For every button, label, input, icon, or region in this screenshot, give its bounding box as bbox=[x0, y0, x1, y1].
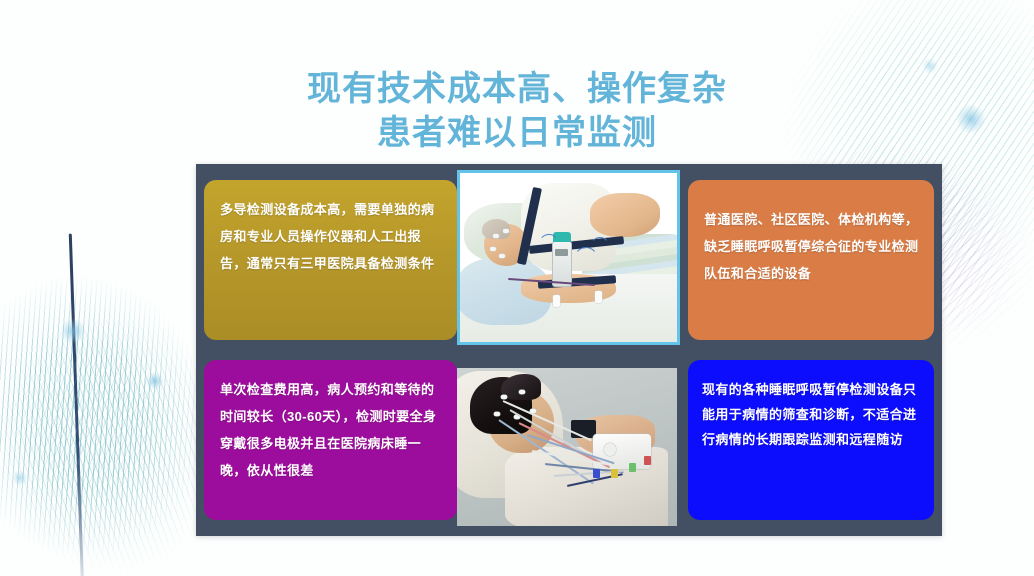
slide-canvas: 现有技术成本高、操作复杂 患者难以日常监测 多导检测设备成本高，需要单独的病房和… bbox=[0, 0, 1034, 576]
info-card-bottom-left-text: 单次检查费用高，病人预约和等待的时间较长（30-60天），检测时要全身穿戴很多电… bbox=[220, 376, 443, 484]
info-card-top-right[interactable]: 普通医院、社区医院、体检机构等，缺乏睡眠呼吸暂停综合征的专业检测队伍和合适的设备 bbox=[688, 180, 934, 340]
title-line-2: 患者难以日常监测 bbox=[0, 111, 1034, 155]
photo-elderly-patient-sleep-study bbox=[457, 170, 680, 345]
info-card-top-left[interactable]: 多导检测设备成本高，需要单独的病房和专业人员操作仪器和人工出报告，通常只有三甲医… bbox=[204, 180, 457, 340]
slide-title: 现有技术成本高、操作复杂 患者难以日常监测 bbox=[0, 67, 1034, 155]
info-card-bottom-left[interactable]: 单次检查费用高，病人预约和等待的时间较长（30-60天），检测时要全身穿戴很多电… bbox=[204, 360, 457, 520]
bokeh-puff-icon bbox=[12, 470, 28, 486]
photo-patient-electrodes-sleep-study bbox=[457, 368, 677, 526]
bokeh-puff-icon bbox=[146, 372, 164, 390]
title-line-1: 现有技术成本高、操作复杂 bbox=[0, 67, 1034, 111]
info-card-bottom-right[interactable]: 现有的各种睡眠呼吸暂停检测设备只能用于病情的筛查和诊断，不适合进行病情的长期跟踪… bbox=[688, 360, 934, 520]
info-card-top-left-text: 多导检测设备成本高，需要单独的病房和专业人员操作仪器和人工出报告，通常只有三甲医… bbox=[220, 196, 443, 277]
info-card-top-right-text: 普通医院、社区医院、体检机构等，缺乏睡眠呼吸暂停综合征的专业检测队伍和合适的设备 bbox=[704, 206, 920, 287]
content-panel: 多导检测设备成本高，需要单独的病房和专业人员操作仪器和人工出报告，通常只有三甲医… bbox=[196, 164, 942, 536]
bokeh-puff-icon bbox=[60, 318, 86, 344]
info-card-bottom-right-text: 现有的各种睡眠呼吸暂停检测设备只能用于病情的筛查和诊断，不适合进行病情的长期跟踪… bbox=[702, 377, 922, 452]
